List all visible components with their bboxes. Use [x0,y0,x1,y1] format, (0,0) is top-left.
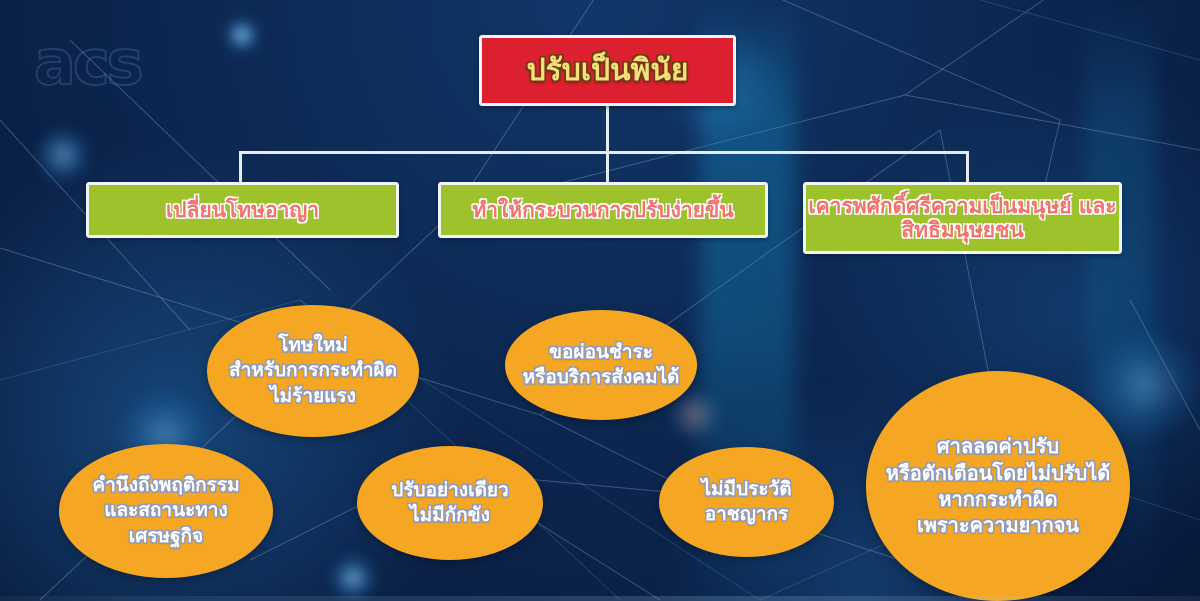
slide-canvas: acs ปรับเป็นพินัย เปลี่ยนโทษอาญา ทำให้กร… [0,0,1200,601]
branch-box-change-criminal-penalty[interactable]: เปลี่ยนโทษอาญา [86,182,399,238]
connector-horizontal-bus [239,151,969,154]
connector-root-vertical [606,106,609,153]
connector-branch-1-vertical [606,151,609,184]
bubble-consider-behaviour-and-economic-status[interactable]: คำนึงถึงพฤติกรรม และสถานะทาง เศรษฐกิจ [59,444,273,578]
bubble-court-reduce-fine-poverty[interactable]: ศาลลดค่าปรับ หรือตักเตือนโดยไม่ปรับได้ ห… [866,371,1130,601]
branch-box-respect-human-dignity[interactable]: เคารพศักดิ์ศรีความเป็นมนุษย์ และสิทธิมนุ… [803,182,1122,254]
glow-dot-left [36,128,90,182]
bubble-1-label: ขอผ่อนชำระ หรือบริการสังคมได้ [515,340,688,390]
connector-branch-0-vertical [239,151,242,184]
branch-box-1-label: ทำให้กระบวนการปรับง่ายขึ้น [472,198,733,222]
bubble-no-criminal-record[interactable]: ไม่มีประวัติ อาชญากร [659,447,834,557]
bubble-2-label: ศาลลดค่าปรับ หรือตักเตือนโดยไม่ปรับได้ ห… [878,433,1118,539]
bubble-3-label: คำนึงถึงพฤติกรรม และสถานะทาง เศรษฐกิจ [84,473,247,548]
glow-dot-top [225,18,259,52]
bubble-new-penalty-minor-offence[interactable]: โทษใหม่ สำหรับการกระทำผิด ไม่ร้ายแรง [207,305,419,437]
branch-box-0-label: เปลี่ยนโทษอาญา [166,198,319,222]
title-box[interactable]: ปรับเป็นพินัย [479,35,736,106]
bubble-4-label: ปรับอย่างเดียว ไม่มีกักขัง [383,478,516,528]
branch-box-simplify-fine-process[interactable]: ทำให้กระบวนการปรับง่ายขึ้น [438,182,768,238]
bubble-0-label: โทษใหม่ สำหรับการกระทำผิด ไม่ร้ายแรง [221,333,405,408]
bubble-5-label: ไม่มีประวัติ อาชญากร [693,477,799,527]
title-box-label: ปรับเป็นพินัย [527,54,689,87]
connector-branch-2-vertical [966,151,969,184]
glow-dot-bottom [330,555,376,601]
bubble-fine-only-no-detention[interactable]: ปรับอย่างเดียว ไม่มีกักขัง [357,446,543,560]
acs-watermark-logo: acs [34,32,141,94]
branch-box-2-label: เคารพศักดิ์ศรีความเป็นมนุษย์ และสิทธิมนุ… [806,194,1119,242]
bubble-installment-or-community-service[interactable]: ขอผ่อนชำระ หรือบริการสังคมได้ [505,310,697,420]
